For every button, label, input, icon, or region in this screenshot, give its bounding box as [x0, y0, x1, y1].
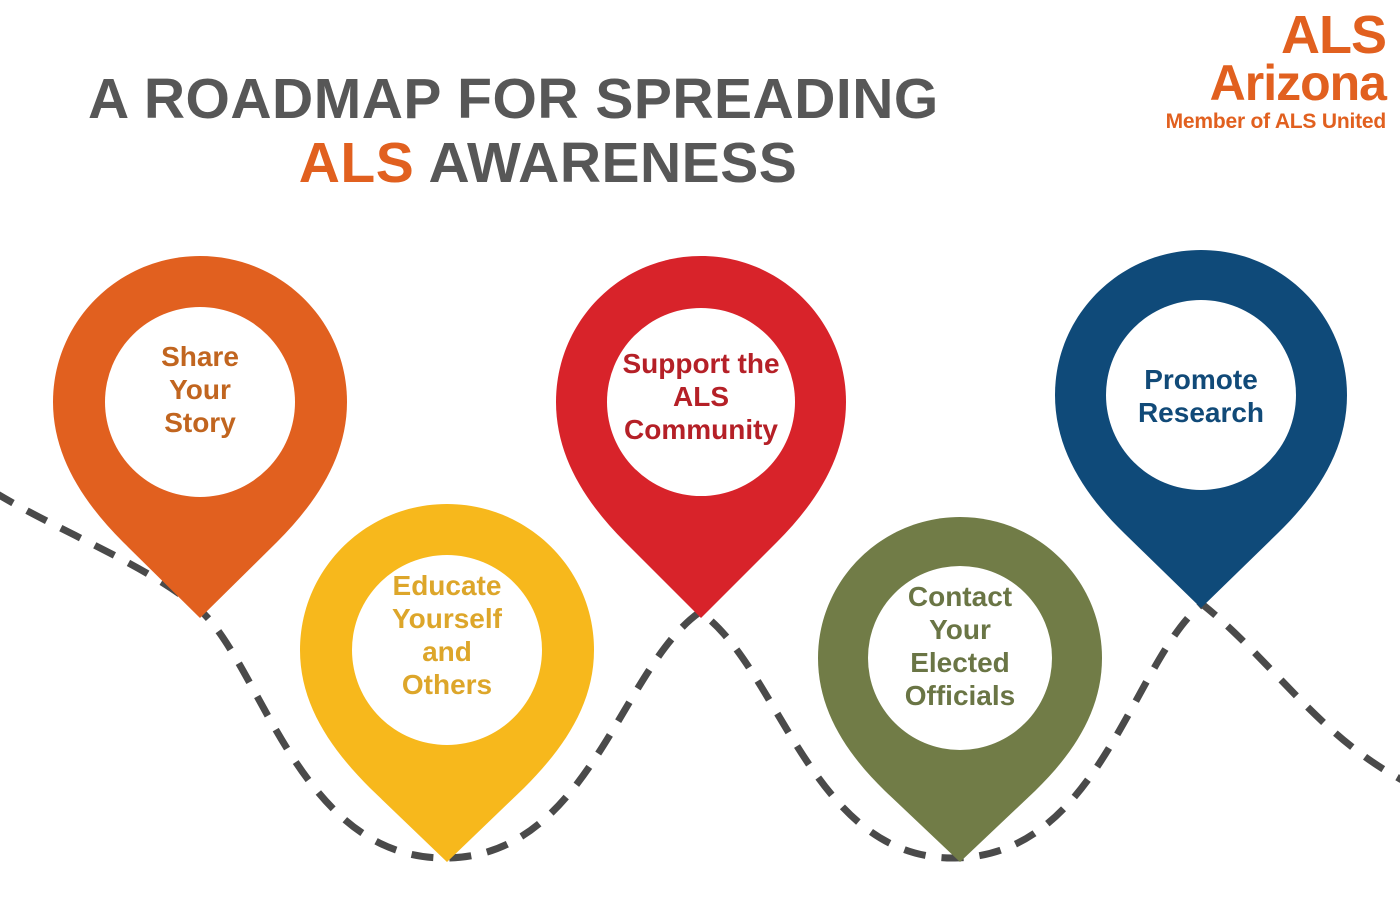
page-title-line-2: ALS AWARENESS	[88, 132, 1008, 196]
als-arizona-logo: ALS Arizona Member of ALS United	[1118, 8, 1386, 132]
logo-line-als: ALS	[1118, 8, 1386, 62]
pin-inner-circle	[352, 555, 542, 745]
page-title-line-1: A ROADMAP FOR SPREADING	[88, 68, 1008, 132]
page-title: A ROADMAP FOR SPREADING ALS AWARENESS	[88, 68, 1008, 196]
pin-shape-icon	[556, 256, 846, 618]
page-title-line-2-rest: AWARENESS	[414, 131, 797, 195]
logo-line-arizona: Arizona	[1118, 58, 1386, 108]
pin-inner-circle	[868, 566, 1052, 750]
pin-shape-icon	[300, 504, 594, 862]
page-title-accent: ALS	[299, 131, 415, 195]
map-pin-educate-yourself-and-others[interactable]: Educate Yourself and Others	[300, 504, 594, 862]
infographic-canvas: Share Your Story Educate Yourself and Ot…	[0, 0, 1400, 906]
logo-line-member: Member of ALS United	[1118, 111, 1386, 132]
map-pin-support-the-als-community[interactable]: Support the ALS Community	[556, 256, 846, 618]
pin-inner-circle	[607, 308, 795, 496]
pin-shape-icon	[1055, 250, 1347, 608]
pin-inner-circle	[1106, 300, 1296, 490]
pin-inner-circle	[105, 307, 295, 497]
map-pin-promote-research[interactable]: Promote Research	[1055, 250, 1347, 608]
